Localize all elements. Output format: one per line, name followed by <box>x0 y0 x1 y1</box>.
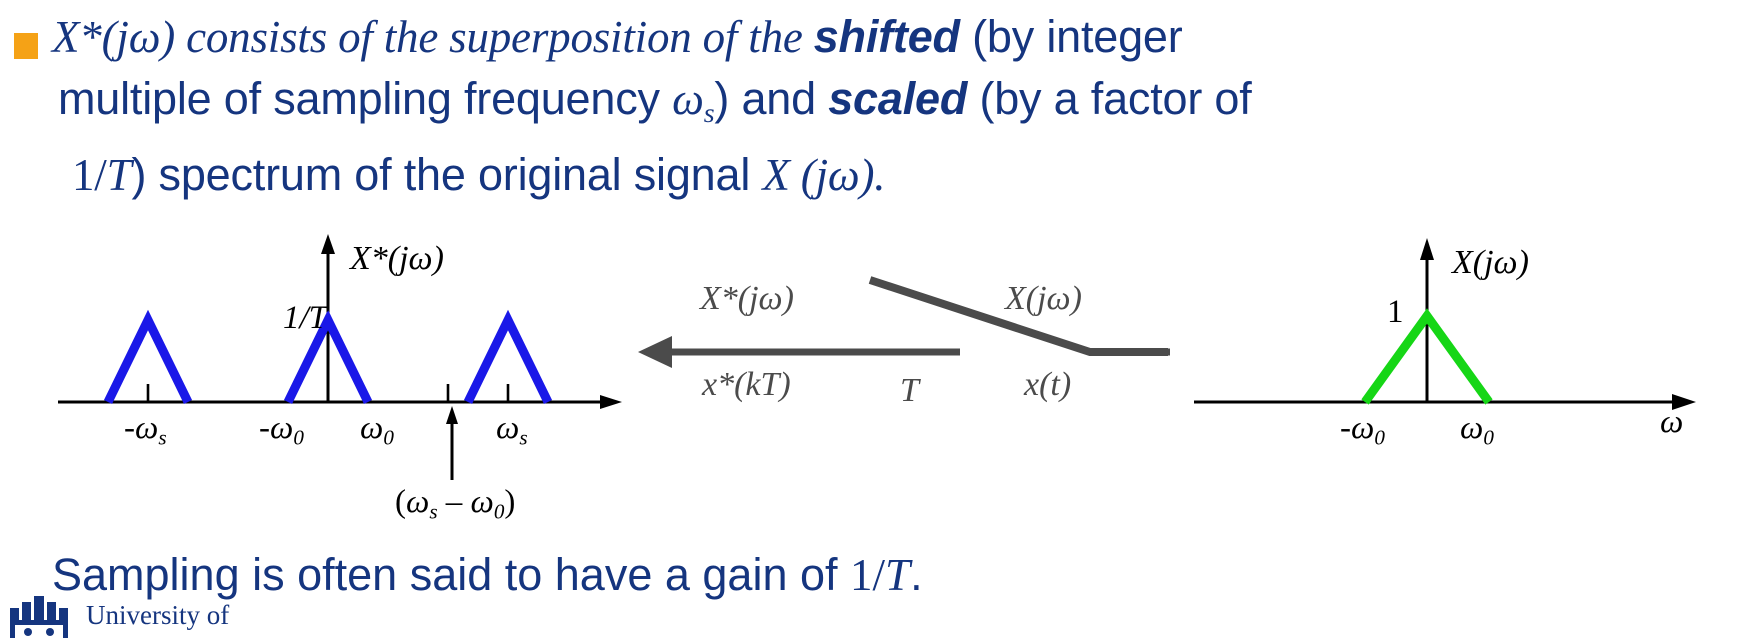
sub-w0-neg: 0 <box>293 425 304 449</box>
right-omega-neg: ω <box>1351 410 1374 446</box>
label-xstar-jw: X*(j <box>700 280 759 317</box>
logo-caption: University of <box>86 600 229 631</box>
label-x-t-close: ) <box>1060 366 1071 403</box>
callout-paren-open: ( <box>395 484 406 520</box>
left-plot-tick-label-ws: ωs <box>496 410 528 450</box>
line3-omega: ω <box>828 150 860 200</box>
right-plot-x-axis-label: ω <box>1660 404 1683 441</box>
sub-ws-pos: s <box>519 425 527 449</box>
right-y-label-close: ) <box>1518 244 1529 281</box>
omega-ws: ω <box>135 410 158 446</box>
sub-ws: s <box>158 425 166 449</box>
bullet-marker-icon <box>14 33 38 59</box>
left-plot-peak-label: 1/T <box>283 300 327 337</box>
right-y-label-omega: ω <box>1494 244 1518 281</box>
right-plot-peak-label: 1 <box>1387 294 1404 331</box>
line1-math-x: X*(j <box>52 12 129 62</box>
left-plot-tick-label-neg-w0: -ω0 <box>259 410 304 450</box>
right-omega-pos: ω <box>1460 410 1483 446</box>
switch-left-bottom-label: x*(kT) <box>702 366 791 404</box>
summary-one-over: 1/ <box>850 550 885 600</box>
line2-emphasis-scaled: scaled <box>828 73 967 124</box>
callout-omega-0: ω <box>471 484 494 520</box>
line1-omega: ω <box>129 12 161 62</box>
line2-tail: (by a factor of <box>967 73 1251 124</box>
label-xstar-kt: x*(kT <box>702 366 779 403</box>
left-plot-y-axis-label: X*(jω) <box>350 240 444 278</box>
switch-left-arrow <box>638 336 960 368</box>
right-sub-pos: 0 <box>1483 425 1494 449</box>
neg-sign-w0: - <box>259 410 270 446</box>
line1-paren: ) consists of the superposition of the <box>160 12 813 62</box>
line3-T: T <box>107 150 132 200</box>
switch-right-top-label: X(jω) <box>1005 280 1082 318</box>
line3-jomega-open: (j <box>790 150 828 200</box>
line3-mid: ) spectrum of the original signal <box>131 149 762 200</box>
bullet-line-3: 1/T) spectrum of the original signal X (… <box>52 144 1742 206</box>
summary-T: T <box>885 550 910 600</box>
line3-close: ). <box>859 150 885 200</box>
left-plot-callout-arrow <box>446 406 458 480</box>
right-y-label-x: X(j <box>1452 244 1494 281</box>
university-logo: University of <box>8 592 258 644</box>
left-y-label-x: X*(j <box>350 240 409 277</box>
label-x-jw: X(j <box>1005 280 1047 317</box>
right-plot-axes <box>1194 238 1696 410</box>
callout-paren-close: ) <box>504 484 515 520</box>
bullet-line-2: multiple of sampling frequency ωs) and s… <box>52 68 1742 144</box>
callout-minus: – <box>438 484 471 520</box>
right-plot-tick-label-neg-w0: -ω0 <box>1340 410 1385 450</box>
line2-mid: ) and <box>714 73 828 124</box>
neg-sign-ws: - <box>124 410 135 446</box>
line1-emphasis-shifted: shifted <box>814 11 960 62</box>
right-neg-sign: - <box>1340 410 1351 446</box>
line3-one-over: 1/ <box>72 150 107 200</box>
label-xstar-omega: ω <box>759 280 783 317</box>
left-y-label-close: ) <box>433 240 444 277</box>
label-x-close: ) <box>1071 280 1082 317</box>
castle-logo-icon <box>8 592 80 638</box>
summary-period: . <box>910 549 923 600</box>
line1-tail: (by integer <box>960 11 1183 62</box>
left-plot-tick-label-w0: ω0 <box>360 410 394 450</box>
right-sub-neg: 0 <box>1374 425 1385 449</box>
callout-sub-0: 0 <box>494 499 505 523</box>
bullet-text: X*(jω) consists of the superposition of … <box>52 6 1742 206</box>
sampling-spectrum-figure: X*(jω) 1/T -ωs -ω0 ω0 ωs (ωs – ω0) X*(jω… <box>0 232 1750 532</box>
label-xstar-close: ) <box>783 280 794 317</box>
omega-w0-neg: ω <box>270 410 293 446</box>
line2-head: multiple of sampling frequency <box>58 73 672 124</box>
right-plot-tick-label-w0: ω0 <box>1460 410 1494 450</box>
omega-ws-pos: ω <box>496 410 519 446</box>
callout-omega-s: ω <box>406 484 429 520</box>
label-xstar-kt-close: ) <box>779 366 790 403</box>
line3-X: X <box>762 150 789 200</box>
left-plot-tick-label-neg-ws: -ωs <box>124 410 167 450</box>
label-x-t: x(t <box>1024 366 1060 403</box>
switch-left-top-label: X*(jω) <box>700 280 794 318</box>
left-y-label-omega: ω <box>409 240 433 277</box>
omega-w0-pos: ω <box>360 410 383 446</box>
switch-right-bottom-label: x(t) <box>1024 366 1071 404</box>
sub-w0-pos: 0 <box>383 425 394 449</box>
label-x-omega: ω <box>1047 280 1071 317</box>
switch-period-label: T <box>900 372 919 410</box>
line2-omega-subscript: s <box>704 98 715 129</box>
left-plot-callout-label: (ωs – ω0) <box>395 484 515 524</box>
right-plot-y-axis-label: X(jω) <box>1452 244 1529 282</box>
callout-sub-s: s <box>429 499 437 523</box>
line2-omega: ω <box>672 74 704 124</box>
